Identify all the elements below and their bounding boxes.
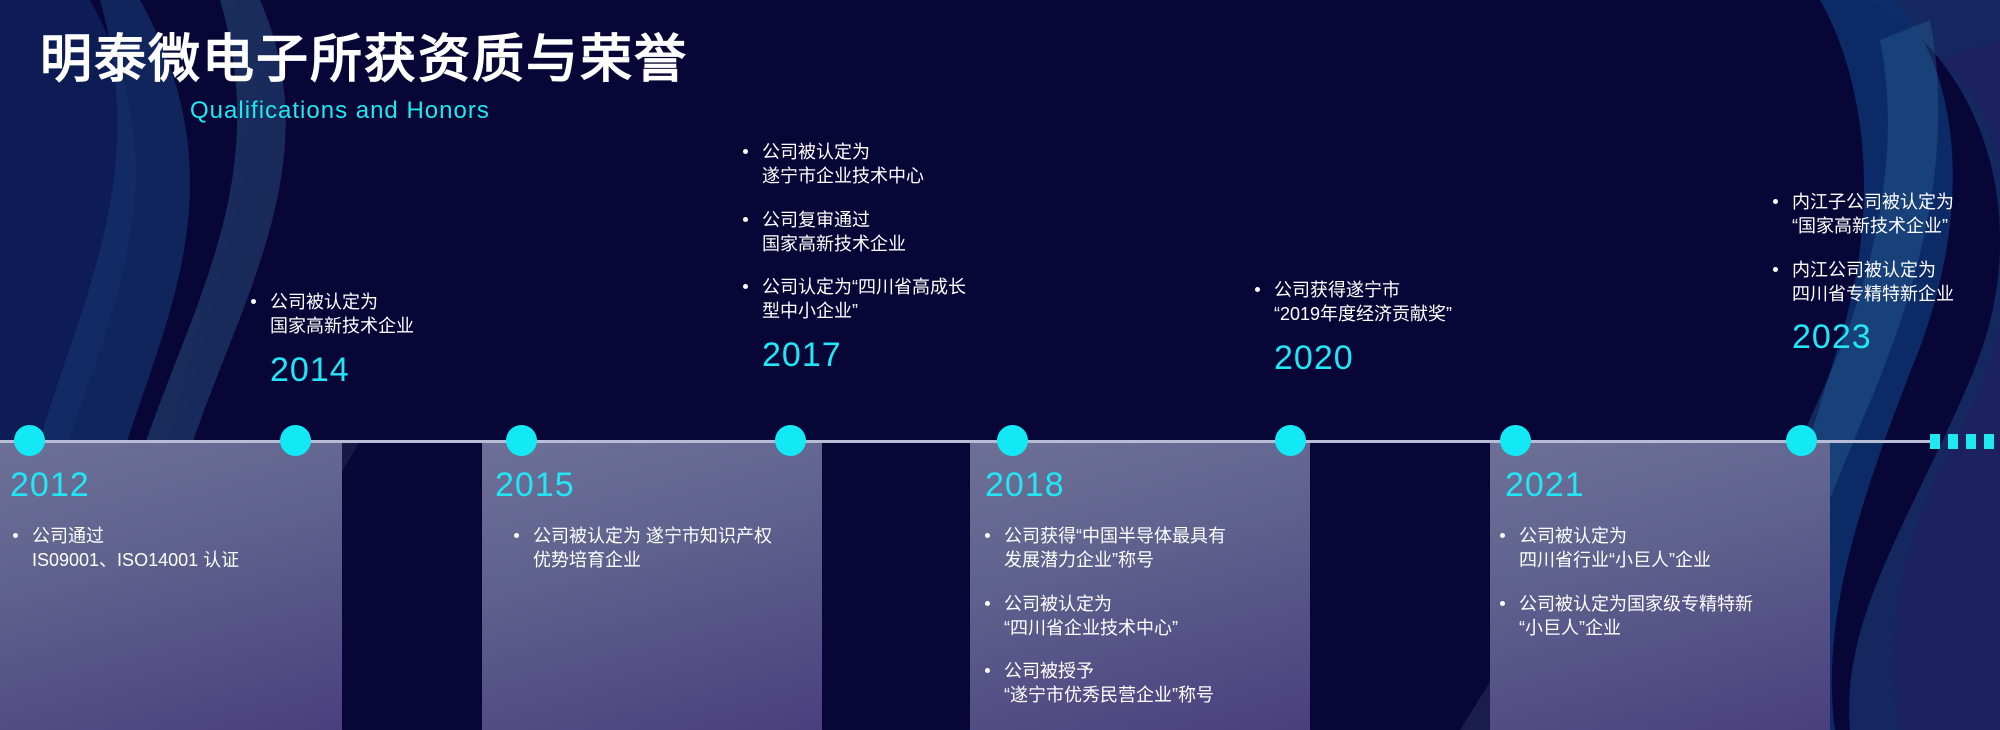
list-item: 公司被授予 “遂宁市优秀民营企业”称号 (982, 659, 1305, 708)
list-item: 内江公司被认定为 四川省专精特新企业 (1770, 258, 2000, 307)
timeline-node-2023[interactable] (1786, 425, 1817, 456)
timeline-node-2015[interactable] (506, 425, 537, 456)
milestone-2017: 公司被认定为 遂宁市企业技术中心 公司复审通过 国家高新技术企业 公司认定为“四… (740, 140, 1070, 372)
milestone-2023: 内江子公司被认定为 “国家高新技术企业” 内江公司被认定为 四川省专精特新企业 … (1770, 190, 2000, 354)
list-item: 内江子公司被认定为 “国家高新技术企业” (1770, 190, 2000, 239)
list-item: 公司被认定为国家级专精特新 “小巨人”企业 (1497, 592, 1845, 641)
milestone-2018: 2018 公司获得“中国半导体最具有 发展潜力企业”称号 公司被认定为 “四川省… (985, 468, 1305, 708)
milestone-year-2018: 2018 (985, 468, 1305, 502)
milestone-year-2023: 2023 (1792, 320, 2000, 354)
timeline-node-2018[interactable] (997, 425, 1028, 456)
milestone-bullets-2015: 公司被认定为 遂宁市知识产权优势培育企业 (511, 524, 775, 573)
milestone-bullets-2021: 公司被认定为 四川省行业“小巨人”企业 公司被认定为国家级专精特新 “小巨人”企… (1497, 524, 1845, 640)
milestone-bullets-2017: 公司被认定为 遂宁市企业技术中心 公司复审通过 国家高新技术企业 公司认定为“四… (740, 140, 1070, 324)
milestone-2015: 2015 公司被认定为 遂宁市知识产权优势培育企业 (495, 468, 775, 573)
milestone-2012: 2012 公司通过 IS09001、ISO14001 认证 (10, 468, 340, 573)
milestone-year-2017: 2017 (762, 338, 1070, 372)
milestone-2021: 2021 公司被认定为 四川省行业“小巨人”企业 公司被认定为国家级专精特新 “… (1505, 468, 1845, 640)
milestone-bullets-2014: 公司被认定为 国家高新技术企业 (248, 290, 568, 339)
list-item: 公司被认定为 国家高新技术企业 (248, 290, 568, 339)
list-item: 公司被认定为 四川省行业“小巨人”企业 (1497, 524, 1845, 573)
timeline-node-2017[interactable] (775, 425, 806, 456)
milestone-2020: 公司获得遂宁市 “2019年度经济贡献奖” 2020 (1252, 278, 1572, 375)
header: 明泰微电子所获资质与荣誉 Qualifications and Honors (40, 32, 688, 125)
milestone-bullets-2023: 内江子公司被认定为 “国家高新技术企业” 内江公司被认定为 四川省专精特新企业 (1770, 190, 2000, 306)
timeline-node-2014[interactable] (280, 425, 311, 456)
milestone-bullets-2012: 公司通过 IS09001、ISO14001 认证 (10, 524, 340, 573)
page-subtitle: Qualifications and Honors (190, 97, 688, 125)
milestone-2014: 公司被认定为 国家高新技术企业 2014 (248, 290, 568, 387)
page-title: 明泰微电子所获资质与荣誉 (40, 32, 688, 89)
list-item: 公司获得“中国半导体最具有 发展潜力企业”称号 (982, 524, 1305, 573)
timeline-node-2012[interactable] (14, 425, 45, 456)
list-item: 公司获得遂宁市 “2019年度经济贡献奖” (1252, 278, 1572, 327)
milestone-year-2012: 2012 (10, 468, 340, 502)
timeline-node-2020[interactable] (1275, 425, 1306, 456)
milestone-year-2014: 2014 (270, 353, 568, 387)
list-item: 公司认定为“四川省高成长 型中小企业” (740, 275, 1070, 324)
slide-canvas: 明泰微电子所获资质与荣誉 Qualifications and Honors 2… (0, 0, 2000, 730)
timeline-axis-end-dashes (1930, 434, 2000, 449)
timeline-node-2021[interactable] (1500, 425, 1531, 456)
list-item: 公司被认定为 遂宁市企业技术中心 (740, 140, 1070, 189)
list-item: 公司通过 IS09001、ISO14001 认证 (10, 524, 340, 573)
list-item: 公司被认定为 “四川省企业技术中心” (982, 592, 1305, 641)
milestone-bullets-2020: 公司获得遂宁市 “2019年度经济贡献奖” (1252, 278, 1572, 327)
milestone-bullets-2018: 公司获得“中国半导体最具有 发展潜力企业”称号 公司被认定为 “四川省企业技术中… (982, 524, 1305, 708)
milestone-year-2021: 2021 (1505, 468, 1845, 502)
milestone-year-2015: 2015 (495, 468, 775, 502)
milestone-year-2020: 2020 (1274, 341, 1572, 375)
list-item: 公司被认定为 遂宁市知识产权优势培育企业 (511, 524, 775, 573)
list-item: 公司复审通过 国家高新技术企业 (740, 208, 1070, 257)
